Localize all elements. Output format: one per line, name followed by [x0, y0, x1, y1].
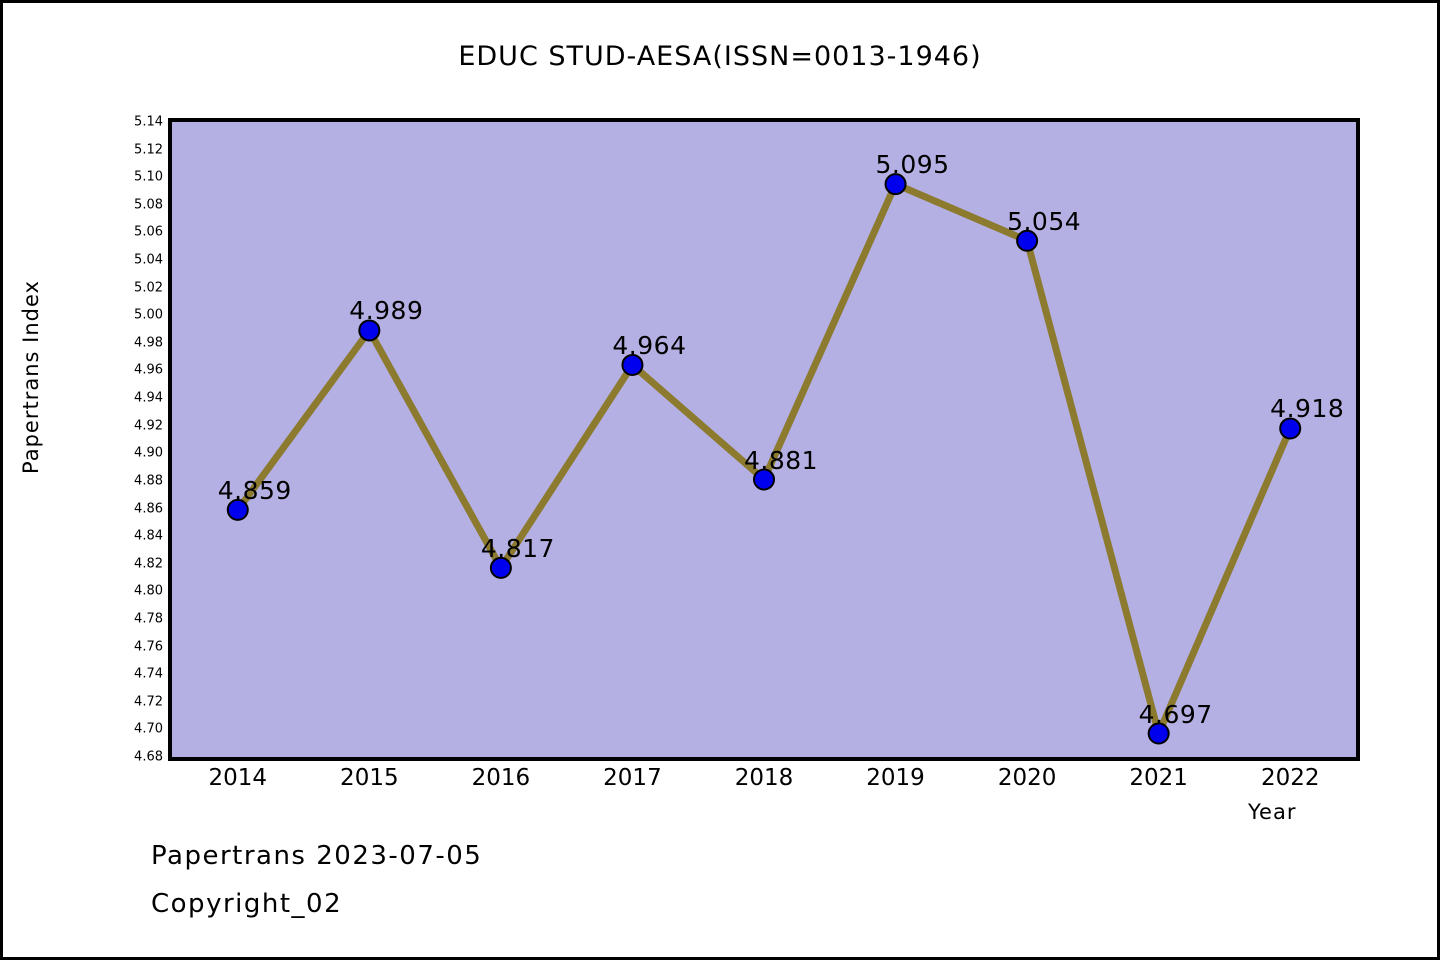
y-tick-label: 5.10: [134, 170, 163, 185]
y-tick-label: 4.82: [134, 556, 163, 571]
x-tick-label: 2020: [998, 765, 1057, 791]
y-tick-label: 5.14: [134, 115, 163, 130]
y-tick-label: 5.06: [134, 225, 163, 240]
y-axis-label: Papertrans Index: [19, 57, 43, 697]
y-tick-label: 5.00: [134, 308, 163, 323]
data-series-layer: [168, 118, 1360, 761]
y-tick-label: 4.78: [134, 611, 163, 626]
x-tick-label: 2015: [340, 765, 399, 791]
y-tick-label: 4.86: [134, 501, 163, 516]
y-tick-label: 4.70: [134, 722, 163, 737]
footer-copyright: Copyright_02: [151, 889, 342, 919]
x-tick-label: 2016: [472, 765, 531, 791]
y-tick-label: 4.76: [134, 639, 163, 654]
footer-papertrans-date: Papertrans 2023-07-05: [151, 841, 482, 871]
data-point-label: 4.989: [349, 296, 423, 325]
y-tick-label: 4.88: [134, 473, 163, 488]
data-point-label: 4.817: [481, 534, 555, 563]
data-point-label: 5.054: [1007, 207, 1081, 236]
data-point-label: 4.964: [612, 331, 686, 360]
y-tick-label: 4.96: [134, 363, 163, 378]
y-tick-label: 5.12: [134, 142, 163, 157]
y-tick-label: 5.02: [134, 280, 163, 295]
x-tick-label: 2014: [208, 765, 267, 791]
y-tick-label: 4.72: [134, 694, 163, 709]
y-tick-label: 5.08: [134, 197, 163, 212]
data-point-label: 4.697: [1139, 700, 1213, 729]
data-point-label: 4.881: [744, 446, 818, 475]
y-tick-label: 4.94: [134, 391, 163, 406]
x-tick-label: 2022: [1261, 765, 1320, 791]
data-point-label: 5.095: [876, 150, 950, 179]
x-tick-label: 2019: [866, 765, 925, 791]
y-tick-label: 4.92: [134, 418, 163, 433]
x-tick-label: 2017: [603, 765, 662, 791]
y-tick-label: 4.68: [134, 750, 163, 765]
x-tick-label: 2021: [1129, 765, 1188, 791]
y-tick-label: 4.80: [134, 584, 163, 599]
chart-page: EDUC STUD-AESA(ISSN=0013-1946) 5.145.125…: [0, 0, 1440, 960]
data-point-label: 4.859: [218, 476, 292, 505]
y-tick-label: 4.74: [134, 667, 163, 682]
y-tick-label: 4.98: [134, 335, 163, 350]
data-point-label: 4.918: [1270, 394, 1344, 423]
y-tick-label: 4.90: [134, 446, 163, 461]
y-tick-label: 4.84: [134, 529, 163, 544]
x-axis-label: Year: [1248, 800, 1296, 824]
y-axis-tick-labels: 5.145.125.105.085.065.045.025.004.984.96…: [113, 118, 163, 761]
y-tick-label: 5.04: [134, 253, 163, 268]
chart-title: EDUC STUD-AESA(ISSN=0013-1946): [3, 41, 1437, 72]
x-tick-label: 2018: [735, 765, 794, 791]
